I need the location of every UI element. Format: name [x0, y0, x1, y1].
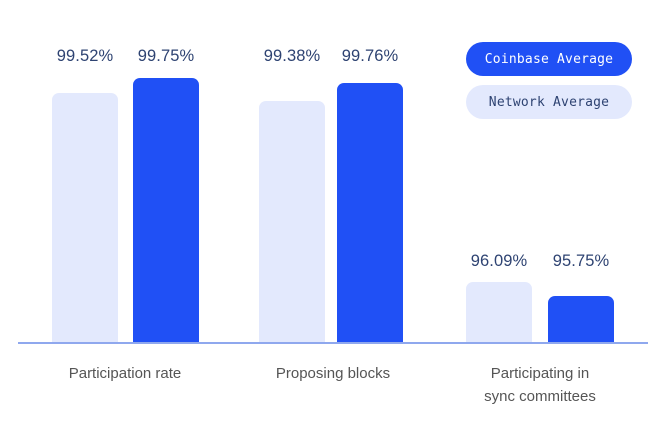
bar-coinbase-participation-rate[interactable] — [133, 78, 199, 344]
legend-item-label: Coinbase Average — [485, 52, 613, 67]
bar-network-participation-rate[interactable] — [52, 93, 118, 344]
legend-item-coinbase-average[interactable]: Coinbase Average — [466, 42, 632, 76]
bar-value-network-participation-rate: 99.52% — [40, 47, 130, 66]
category-label-proposing-blocks: Proposing blocks — [228, 362, 438, 385]
legend-item-network-average[interactable]: Network Average — [466, 85, 632, 119]
category-label-line-1: Participation rate — [20, 362, 230, 385]
chart-legend: Coinbase Average Network Average — [466, 42, 632, 119]
bar-network-sync-committees[interactable] — [466, 282, 532, 344]
bar-value-coinbase-sync-committees: 95.75% — [536, 252, 626, 271]
bar-value-coinbase-participation-rate: 99.75% — [121, 47, 211, 66]
bar-value-coinbase-proposing-blocks: 99.76% — [325, 47, 415, 66]
bar-value-network-sync-committees: 96.09% — [454, 252, 544, 271]
category-label-participation-rate: Participation rate — [20, 362, 230, 385]
category-label-line-1: Proposing blocks — [228, 362, 438, 385]
category-label-sync-committees: Participating in sync committees — [435, 362, 645, 408]
bar-value-network-proposing-blocks: 99.38% — [247, 47, 337, 66]
bar-network-proposing-blocks[interactable] — [259, 101, 325, 344]
bar-coinbase-proposing-blocks[interactable] — [337, 83, 403, 344]
bar-coinbase-sync-committees[interactable] — [548, 296, 614, 344]
bar-chart: 99.52% 99.75% 99.38% 99.76% 96.09% 95.75… — [0, 0, 666, 421]
category-label-line-2: sync committees — [435, 385, 645, 408]
axis-baseline — [18, 342, 648, 344]
category-label-line-1: Participating in — [435, 362, 645, 385]
legend-item-label: Network Average — [489, 95, 609, 110]
